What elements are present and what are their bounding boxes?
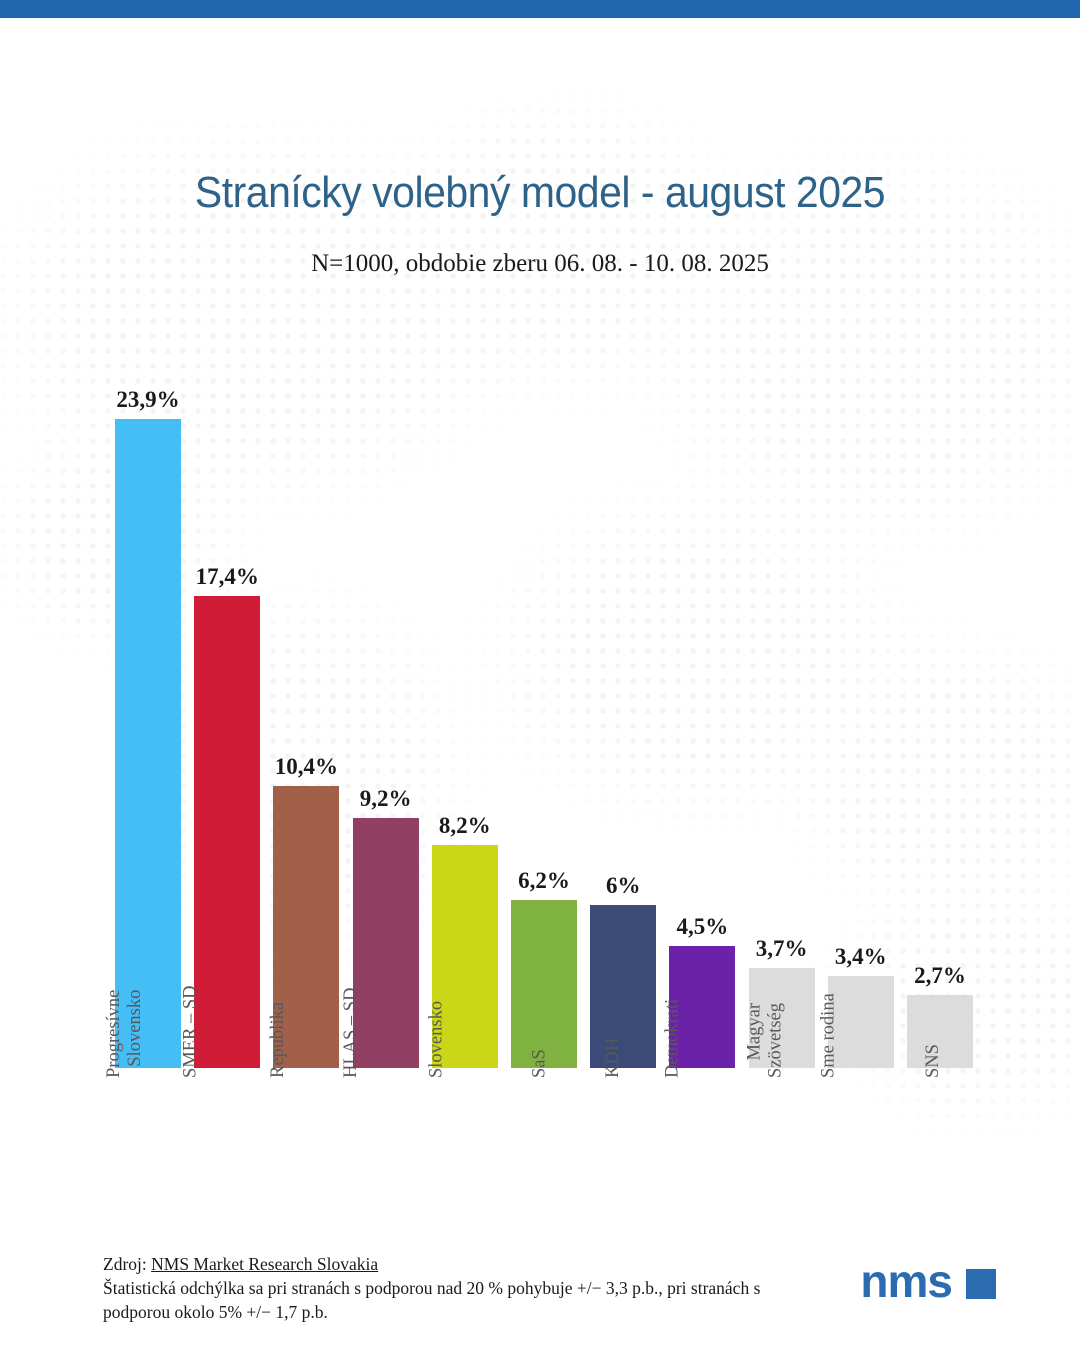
bar-category-label: MagyarSzövetség	[744, 1003, 785, 1078]
poll-chart-page: Stranícky volebný model - august 2025 N=…	[0, 0, 1080, 1350]
bar-category-label-line: Slovensko	[125, 990, 146, 1078]
bar-value-label: 9,2%	[306, 786, 466, 812]
bar-category-label-line: Magyar	[744, 1003, 765, 1078]
bar-value-label: 8,2%	[385, 813, 545, 839]
note-line-2: podporou okolo 5% +/− 1,7 p.b.	[103, 1300, 803, 1324]
bar-value-label: 6%	[543, 873, 703, 899]
source-prefix: Zdroj:	[103, 1254, 151, 1274]
source-line: Zdroj: NMS Market Research Slovakia	[103, 1252, 803, 1276]
source-link[interactable]: NMS Market Research Slovakia	[151, 1254, 378, 1274]
bar[interactable]	[511, 900, 577, 1068]
bar-value-label: 2,7%	[860, 963, 1020, 989]
bar-group: 3,4%Sme rodina	[828, 976, 894, 1068]
note-line-1: Štatistická odchýlka sa pri stranách s p…	[103, 1276, 803, 1300]
bar-category-label: KDH	[603, 1038, 624, 1078]
bar-group: 10,4%Republika	[273, 786, 339, 1068]
bar-category-label: Republika	[268, 1002, 289, 1078]
bar-category-label-line: SNS	[923, 1044, 944, 1078]
bar-category-label: Slovensko	[426, 1001, 447, 1078]
bar-group: 6,2%SaS	[511, 900, 577, 1068]
bar[interactable]	[353, 818, 419, 1068]
bar-category-label-line: Szövetség	[765, 1003, 786, 1078]
bar-category-label: SaS	[530, 1049, 551, 1078]
bar-value-label: 10,4%	[226, 754, 386, 780]
bar-category-label-line: SaS	[530, 1049, 551, 1078]
bar-category-label: ProgresívneSlovensko	[104, 990, 145, 1078]
bar-category-label-line: SMER – SD	[181, 985, 202, 1078]
bar-category-label-line: Slovensko	[426, 1001, 447, 1078]
bar-category-label-line: Sme rodina	[818, 993, 839, 1078]
bar-category-label-line: HLAS – SD	[340, 988, 361, 1078]
bar-group: 2,7%SNS	[907, 995, 973, 1068]
nms-logo: nms	[860, 1258, 996, 1304]
bar-group: 9,2%HLAS – SD	[353, 818, 419, 1068]
bar[interactable]	[115, 419, 181, 1068]
bar-value-label: 23,9%	[68, 387, 228, 413]
bar-category-label-line: KDH	[603, 1038, 624, 1078]
bar-group: 23,9%ProgresívneSlovensko	[115, 419, 181, 1068]
bar-category-label-line: Demokrati	[663, 999, 684, 1078]
bar-category-label: SMER – SD	[181, 985, 202, 1078]
bar-group: 17,4%SMER – SD	[194, 596, 260, 1068]
bar-category-label: Demokrati	[663, 999, 684, 1078]
bar[interactable]	[194, 596, 260, 1068]
bar-chart: 23,9%ProgresívneSlovensko17,4%SMER – SD1…	[0, 0, 1080, 1350]
logo-square-icon	[966, 1269, 996, 1299]
bar-group: 3,7%MagyarSzövetség	[749, 968, 815, 1068]
bar-category-label: HLAS – SD	[340, 988, 361, 1078]
bar-category-label: SNS	[923, 1044, 944, 1078]
bar-category-label: Sme rodina	[818, 993, 839, 1078]
bar-category-label-line: Progresívne	[104, 990, 125, 1078]
bar-category-label-line: Republika	[268, 1002, 289, 1078]
bar-group: 4,5%Demokrati	[669, 946, 735, 1068]
bar-value-label: 17,4%	[147, 564, 307, 590]
footer-note: Zdroj: NMS Market Research Slovakia Štat…	[103, 1252, 803, 1324]
logo-wordmark: nms	[860, 1258, 952, 1304]
